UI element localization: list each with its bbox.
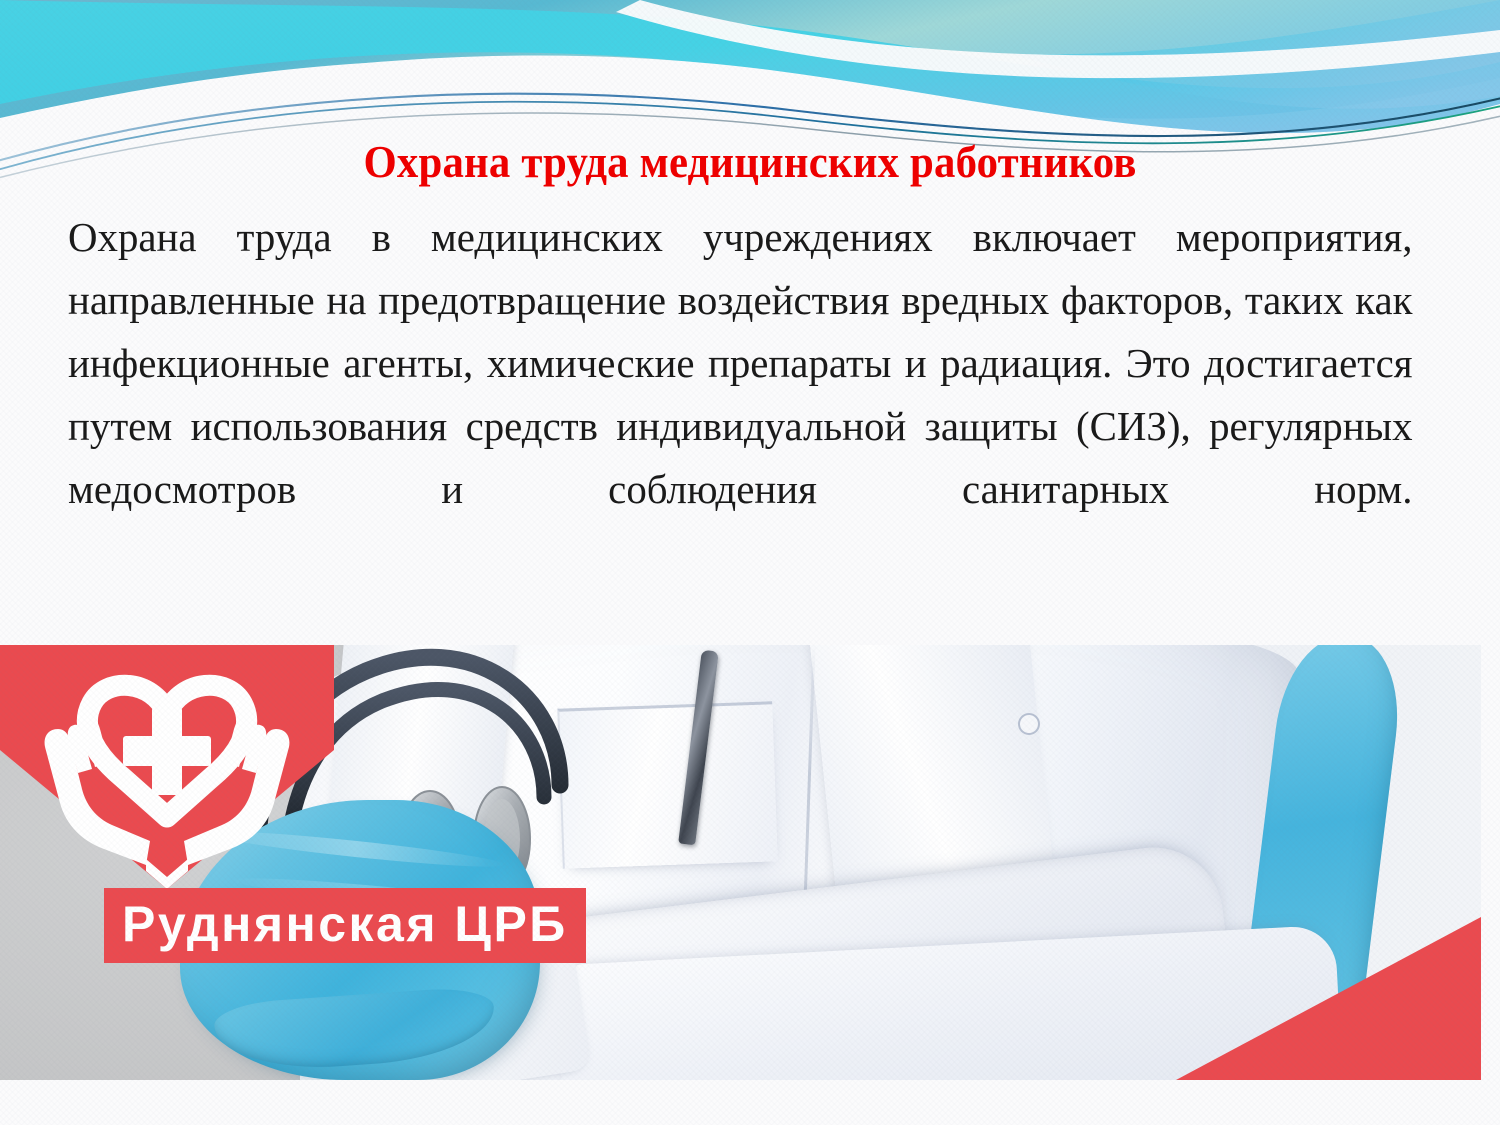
slide-bottom-band [0,1080,1500,1125]
slide-title: Охрана труда медицинских работников [53,138,1448,186]
presentation-slide: Охрана труда медицинских работников Охра… [0,0,1500,1125]
organization-name-text: Руднянская ЦРБ [122,898,568,950]
organization-logo-banner [0,645,334,889]
red-corner-accent [1176,917,1481,1080]
slide-body-text: Охрана труда в медицинских учреждениях в… [68,206,1413,584]
coat-button-top [1018,713,1040,735]
organization-name-label: Руднянская ЦРБ [104,888,586,963]
